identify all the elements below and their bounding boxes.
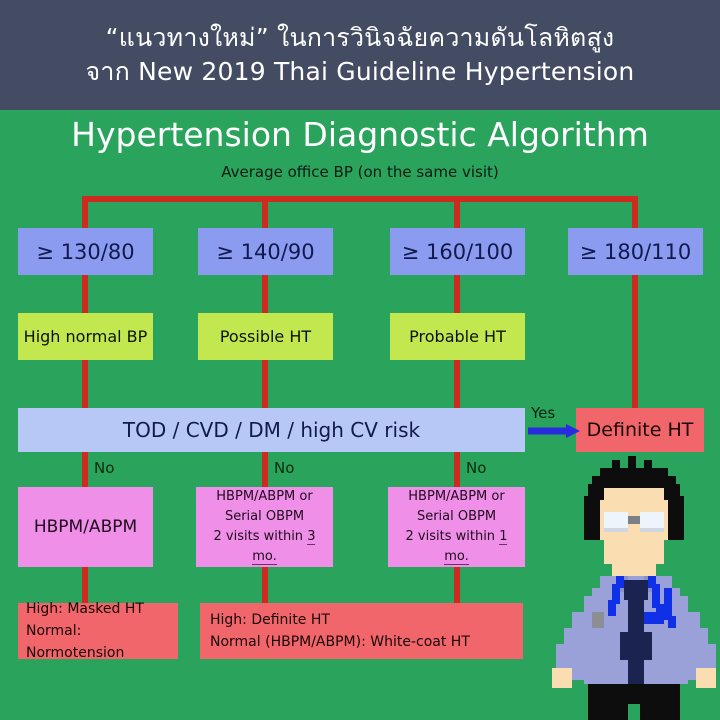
thai-header-banner: “แนวทางใหม่” ในการวินิจฉัยความดันโลหิตสู… (0, 0, 720, 110)
measure2-line-3: 2 visits within 3 mo. (200, 527, 329, 567)
measure-box-1[interactable]: HBPM/ABPM (18, 487, 153, 567)
no-branch-label-1: No (94, 459, 114, 477)
measure3-line-1: HBPM/ABPM or (392, 487, 521, 507)
threshold-label-2: ≥ 140/90 (198, 240, 333, 264)
threshold-label-4: ≥ 180/110 (568, 240, 703, 264)
threshold-box-3[interactable]: ≥ 160/100 (390, 228, 525, 275)
outcome-box-1[interactable]: High: Masked HT Normal: Normotension (18, 603, 178, 659)
definite-ht-box[interactable]: Definite HT (576, 408, 704, 452)
outcome1-line-2: Normal: Normotension (26, 620, 174, 664)
stage-label-1: High normal BP (18, 327, 153, 346)
risk-bar-label: TOD / CVD / DM / high CV risk (18, 418, 525, 442)
outcome-box-2[interactable]: High: Definite HT Normal (HBPM/ABPM): Wh… (200, 603, 523, 659)
stage-label-2: Possible HT (198, 327, 333, 346)
outcome2-line-2: Normal (HBPM/ABPM): White-coat HT (210, 631, 519, 653)
stage-box-3[interactable]: Probable HT (390, 313, 525, 360)
measure-label-1: HBPM/ABPM (18, 517, 153, 537)
measure2-line-3-head: 2 visits within (214, 529, 308, 544)
measure3-line-2: Serial OBPM (392, 507, 521, 527)
threshold-label-3: ≥ 160/100 (390, 240, 525, 264)
connector-bus-drop-2 (262, 196, 268, 232)
header-line-2: จาก New 2019 Thai Guideline Hypertension (86, 55, 635, 89)
connector-bus-drop-3 (454, 196, 460, 232)
measure3-line-3: 2 visits within 1 mo. (392, 527, 521, 567)
yes-arrow-icon (528, 423, 580, 439)
threshold-box-1[interactable]: ≥ 130/80 (18, 228, 153, 275)
measure-box-3[interactable]: HBPM/ABPM or Serial OBPM 2 visits within… (388, 487, 525, 567)
pixel-art-doctor-illustration (548, 452, 720, 720)
definite-ht-label: Definite HT (576, 419, 704, 441)
page-subtitle: Average office BP (on the same visit) (0, 162, 720, 182)
connector-col4-spine (632, 270, 638, 408)
page-title: Hypertension Diagnostic Algorithm (0, 114, 720, 156)
outcome1-line-1: High: Masked HT (26, 598, 174, 620)
threshold-label-1: ≥ 130/80 (18, 240, 153, 264)
no-branch-label-3: No (466, 459, 486, 477)
infographic-canvas: “แนวทางใหม่” ในการวินิจฉัยความดันโลหิตสู… (0, 0, 720, 720)
risk-assessment-bar[interactable]: TOD / CVD / DM / high CV risk (18, 408, 525, 452)
measure-box-2[interactable]: HBPM/ABPM or Serial OBPM 2 visits within… (196, 487, 333, 567)
stage-box-2[interactable]: Possible HT (198, 313, 333, 360)
stage-box-1[interactable]: High normal BP (18, 313, 153, 360)
measure2-line-1: HBPM/ABPM or (200, 487, 329, 507)
threshold-box-2[interactable]: ≥ 140/90 (198, 228, 333, 275)
yes-branch-label: Yes (531, 404, 555, 422)
measure3-line-3-head: 2 visits within (406, 529, 500, 544)
connector-top-bus (82, 196, 638, 202)
connector-bus-drop-4 (632, 196, 638, 232)
header-line-1: “แนวทางใหม่” ในการวินิจฉัยความดันโลหิตสู… (106, 21, 615, 55)
connector-bus-drop-1 (82, 196, 88, 232)
measure2-line-2: Serial OBPM (200, 507, 329, 527)
no-branch-label-2: No (274, 459, 294, 477)
threshold-box-4[interactable]: ≥ 180/110 (568, 228, 703, 275)
stage-label-3: Probable HT (390, 327, 525, 346)
outcome2-line-1: High: Definite HT (210, 609, 519, 631)
